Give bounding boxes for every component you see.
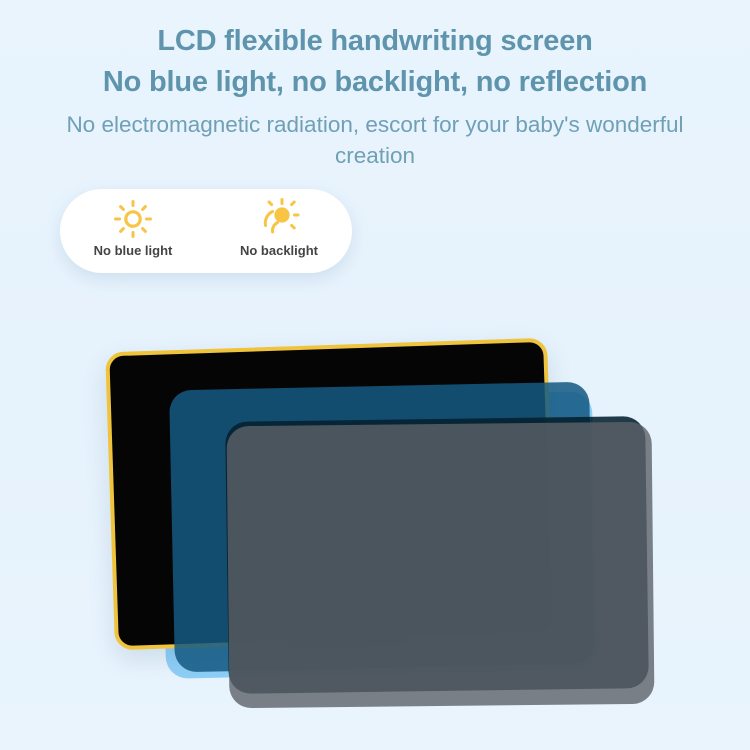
panel-grey-sheet [227, 422, 655, 708]
product-promo-page: LCD flexible handwriting screen No blue … [0, 0, 750, 750]
product-illustration [0, 0, 750, 750]
